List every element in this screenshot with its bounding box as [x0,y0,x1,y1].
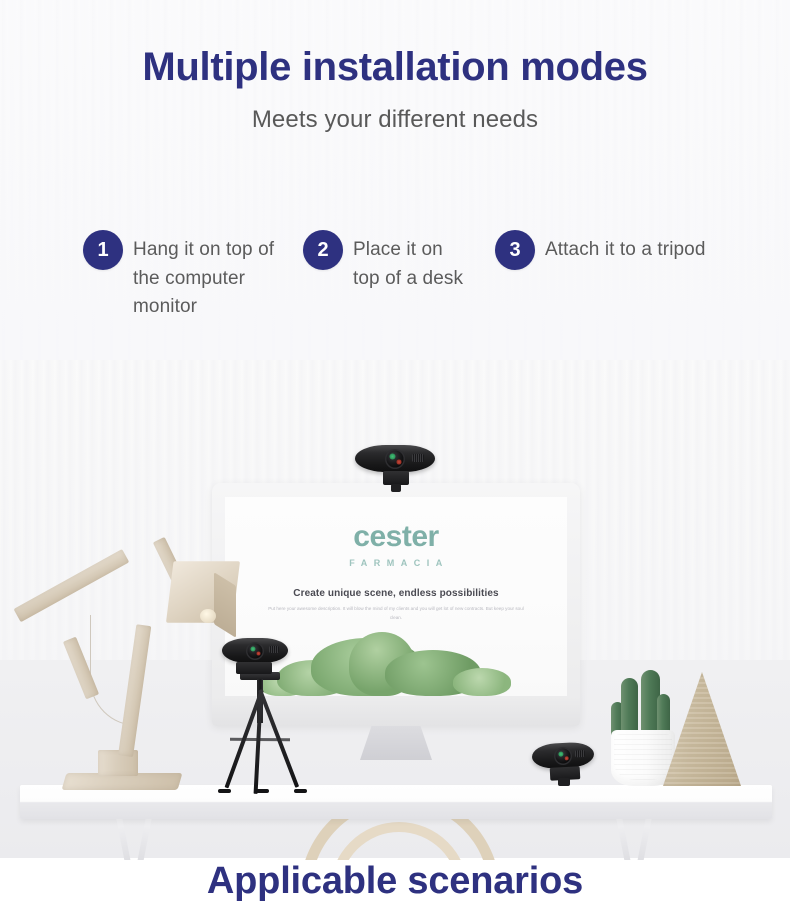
step-number-badge-2: 2 [303,230,343,270]
webcam-on-monitor [355,445,435,497]
monitor-stand-neck [360,726,432,760]
bottom-banner: Applicable scenarios [0,858,790,918]
desk-leg-left [112,817,158,860]
tripod-foot [256,789,269,793]
screen-brand-name: cester [225,522,567,552]
webcam-body [531,741,594,769]
desk-surface [20,785,772,819]
step-label-1: Hang it on top of the computer monitor [133,230,283,322]
webcam-clip-mount [383,471,409,485]
desk-leg-strut [116,816,131,860]
tripod-foot [218,789,231,793]
step-number-badge-1: 1 [83,230,123,270]
desk-leg-strut [137,816,152,860]
microphone-grille [412,454,424,462]
camera-lens-icon [555,748,571,764]
microphone-grille [269,646,279,653]
screen-headline: Create unique scene, endless possibiliti… [225,568,567,599]
page-subtitle: Meets your different needs [0,90,790,134]
webcam-hinge [391,484,401,492]
plant-pot [611,730,675,786]
step-item-1: 1 Hang it on top of the computer monitor [83,230,283,322]
header-section: Multiple installation modes Meets your d… [0,0,790,200]
tripod-brace [230,738,290,742]
webcam-clip-mount [236,662,272,674]
step-number-badge-3: 3 [495,230,535,270]
webcam-body [355,445,435,472]
camera-lens-icon [248,643,263,658]
installation-steps-list: 1 Hang it on top of the computer monitor… [0,228,790,338]
lifestyle-scene-photo: cester FARMACIA Create unique scene, end… [0,360,790,860]
webcam-on-desk [532,743,594,791]
screen-brand-subtitle: FARMACIA [225,552,567,568]
product-infographic-page: Multiple installation modes Meets your d… [0,0,790,918]
banner-title: Applicable scenarios [0,858,790,903]
webcam-body [222,638,288,663]
desk-leg-right [612,817,658,860]
step-label-2: Place it on top of a desk [353,230,473,293]
screen-body-text: Put here your awesome description. It wi… [225,599,567,622]
microphone-grille [575,750,585,758]
webcam-hinge [558,778,570,786]
lamp-upper-arm [14,549,130,622]
desk-leg-strut [637,816,652,860]
desk-leg-strut [616,816,631,860]
camera-lens-icon [387,450,404,467]
step-label-3: Attach it to a tripod [545,230,706,265]
foliage-cluster [453,668,511,696]
webcam-on-tripod [222,638,288,686]
camera-tripod [206,672,316,794]
step-item-2: 2 Place it on top of a desk [303,230,473,293]
screen-brand-block: cester FARMACIA [225,497,567,568]
step-item-3: 3 Attach it to a tripod [495,230,765,270]
tripod-foot [294,789,307,793]
page-title: Multiple installation modes [0,0,790,90]
lamp-bulb [200,609,216,623]
